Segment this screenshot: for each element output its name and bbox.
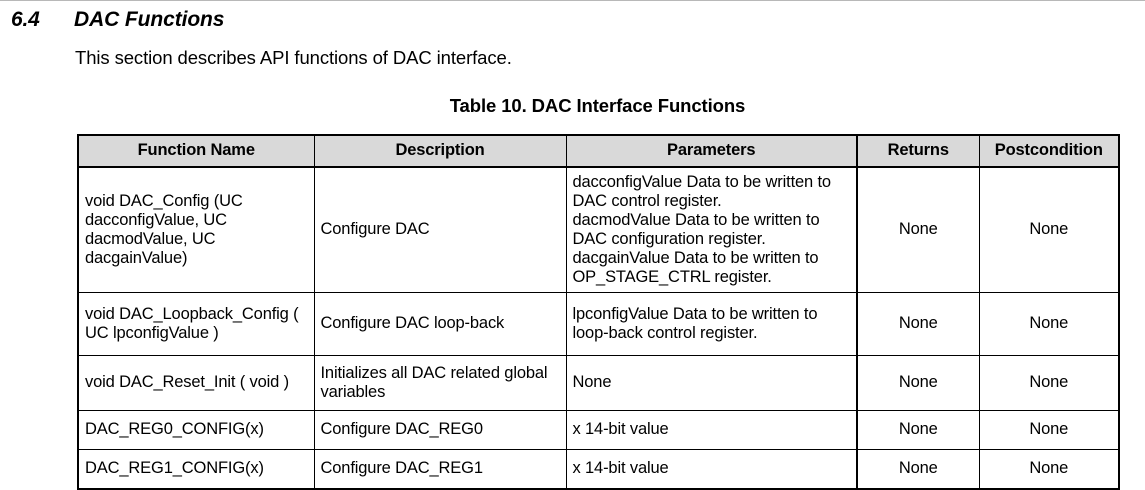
cell-postcondition: None: [979, 356, 1119, 411]
cell-parameters: x 14-bit value: [566, 411, 857, 450]
cell-postcondition: None: [979, 450, 1119, 490]
page-top-rule: [0, 0, 1145, 1]
cell-returns: None: [857, 411, 979, 450]
cell-postcondition: None: [979, 293, 1119, 356]
cell-function-name: DAC_REG0_CONFIG(x): [78, 411, 314, 450]
cell-parameters: None: [566, 356, 857, 411]
cell-function-name: DAC_REG1_CONFIG(x): [78, 450, 314, 490]
cell-description: Initializes all DAC related global varia…: [314, 356, 566, 411]
table-row: void DAC_Config (UC dacconfigValue, UC d…: [78, 167, 1119, 293]
cell-description: Configure DAC: [314, 167, 566, 293]
dac-interface-functions-table: Function Name Description Parameters Ret…: [77, 134, 1118, 490]
cell-postcondition: None: [979, 167, 1119, 293]
cell-function-name: void DAC_Config (UC dacconfigValue, UC d…: [78, 167, 314, 293]
cell-description: Configure DAC loop-back: [314, 293, 566, 356]
cell-description: Configure DAC_REG1: [314, 450, 566, 490]
table-row: void DAC_Reset_Init ( void ) Initializes…: [78, 356, 1119, 411]
cell-function-name: void DAC_Loopback_Config ( UC lpconfigVa…: [78, 293, 314, 356]
cell-returns: None: [857, 167, 979, 293]
cell-returns: None: [857, 356, 979, 411]
section-number: 6.4: [11, 8, 40, 32]
cell-postcondition: None: [979, 411, 1119, 450]
column-header-returns: Returns: [857, 135, 979, 167]
cell-description: Configure DAC_REG0: [314, 411, 566, 450]
cell-returns: None: [857, 293, 979, 356]
section-body-text: This section describes API functions of …: [75, 47, 512, 69]
cell-parameters: dacconfigValue Data to be written to DAC…: [566, 167, 857, 293]
column-header-postcondition: Postcondition: [979, 135, 1119, 167]
table-header-row: Function Name Description Parameters Ret…: [78, 135, 1119, 167]
cell-parameters: lpconfigValue Data to be written to loop…: [566, 293, 857, 356]
column-header-parameters: Parameters: [566, 135, 857, 167]
section-title: DAC Functions: [74, 8, 224, 32]
table-row: DAC_REG1_CONFIG(x) Configure DAC_REG1 x …: [78, 450, 1119, 490]
table-row: DAC_REG0_CONFIG(x) Configure DAC_REG0 x …: [78, 411, 1119, 450]
column-header-function-name: Function Name: [78, 135, 314, 167]
cell-parameters: x 14-bit value: [566, 450, 857, 490]
section-heading: 6.4 DAC Functions: [0, 8, 700, 38]
cell-function-name: void DAC_Reset_Init ( void ): [78, 356, 314, 411]
table-row: void DAC_Loopback_Config ( UC lpconfigVa…: [78, 293, 1119, 356]
column-header-description: Description: [314, 135, 566, 167]
table-caption: Table 10. DAC Interface Functions: [77, 95, 1118, 117]
cell-returns: None: [857, 450, 979, 490]
